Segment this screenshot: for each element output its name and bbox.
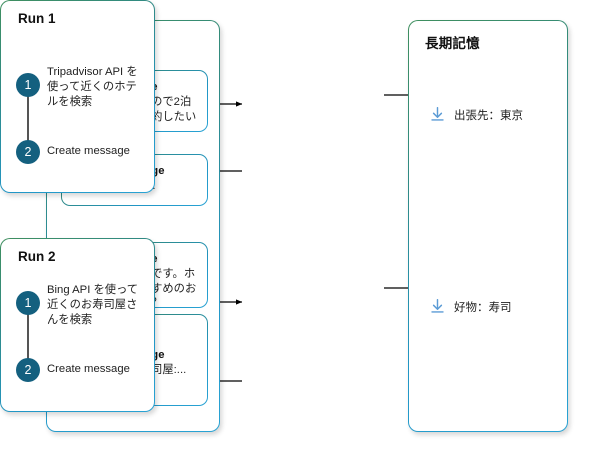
run-step-text-1: Bing API を使って近くのお寿司屋さんを検索: [47, 283, 147, 328]
run-step-text-2: Create message: [47, 362, 147, 377]
run-step-text-2: Create message: [47, 144, 147, 159]
memory-item-label: 好物：寿司: [454, 299, 512, 315]
run-step-badge-1[interactable]: 1: [16, 73, 40, 97]
run-card-2[interactable]: Run 2 1 Bing API を使って近くのお寿司屋さんを検索 2 Crea…: [0, 238, 155, 412]
memory-item-2[interactable]: 好物：寿司: [429, 298, 512, 315]
download-icon: [429, 298, 446, 315]
run-title: Run 2: [18, 249, 56, 264]
memory-item-1[interactable]: 出張先：東京: [429, 106, 523, 123]
run-step-badge-2[interactable]: 2: [16, 358, 40, 382]
run-card-1[interactable]: Run 1 1 Tripadvisor API を使って近くのホテルを検索 2 …: [0, 0, 155, 193]
run-step-badge-1[interactable]: 1: [16, 291, 40, 315]
memory-item-label: 出張先：東京: [454, 107, 523, 123]
long-term-memory-title: 長期記憶: [425, 32, 480, 52]
run-step-text-1: Tripadvisor API を使って近くのホテルを検索: [47, 65, 147, 110]
run-step-badge-2[interactable]: 2: [16, 140, 40, 164]
download-icon: [429, 106, 446, 123]
run-title: Run 1: [18, 11, 56, 26]
long-term-memory-panel: 長期記憶 出張先：東京 好物：寿司: [408, 20, 568, 432]
